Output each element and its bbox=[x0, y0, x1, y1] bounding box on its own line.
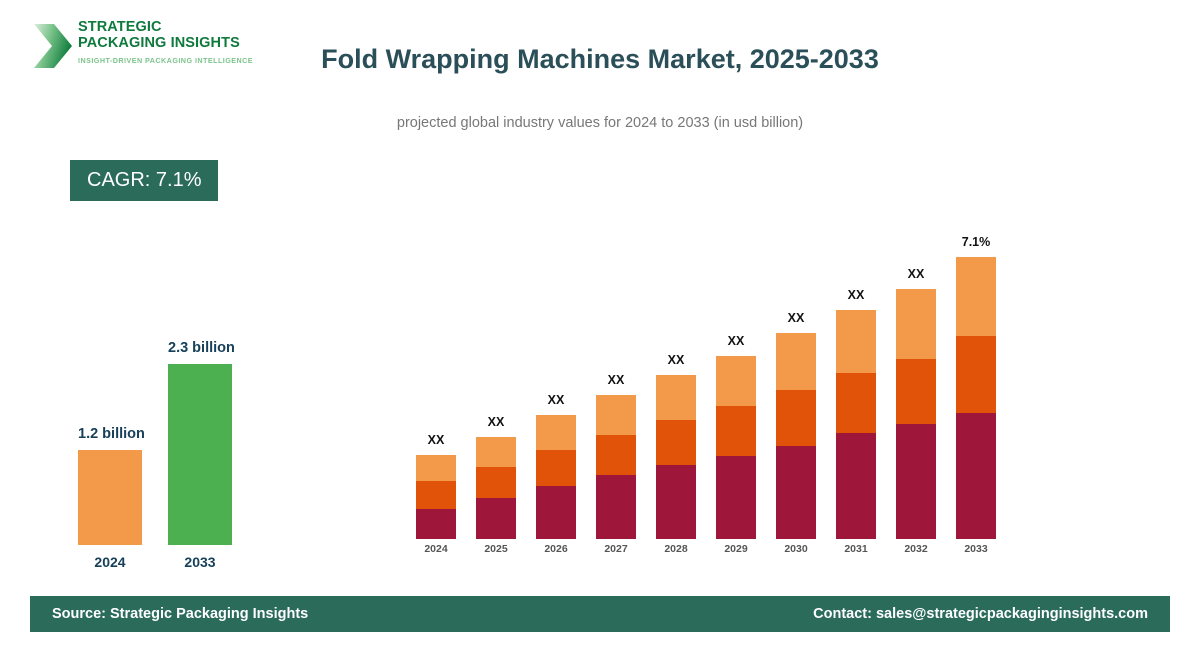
forecast-segment-segment-3 bbox=[536, 415, 576, 450]
forecast-year-label: 2029 bbox=[716, 543, 756, 555]
forecast-year-label: 2024 bbox=[416, 543, 456, 555]
forecast-segment-segment-1 bbox=[476, 498, 516, 539]
forecast-column-2031: XX2031 bbox=[836, 288, 876, 555]
forecast-segment-segment-3 bbox=[716, 356, 756, 406]
forecast-year-label: 2027 bbox=[596, 543, 636, 555]
forecast-segment-segment-1 bbox=[416, 509, 456, 539]
forecast-segment-segment-2 bbox=[476, 467, 516, 498]
forecast-segment-segment-3 bbox=[836, 310, 876, 373]
forecast-column-2028: XX2028 bbox=[656, 353, 696, 555]
forecast-segment-segment-1 bbox=[596, 475, 636, 539]
forecast-stacked-bar-2024 bbox=[416, 455, 456, 539]
forecast-column-2024: XX2024 bbox=[416, 433, 456, 555]
forecast-segment-segment-2 bbox=[836, 373, 876, 433]
page-title: Fold Wrapping Machines Market, 2025-2033 bbox=[0, 44, 1200, 75]
forecast-segment-segment-2 bbox=[416, 481, 456, 509]
forecast-year-label: 2031 bbox=[836, 543, 876, 555]
forecast-year-label: 2033 bbox=[956, 543, 996, 555]
forecast-column-2027: XX2027 bbox=[596, 373, 636, 555]
page-subtitle: projected global industry values for 202… bbox=[0, 115, 1200, 131]
forecast-segment-segment-1 bbox=[896, 424, 936, 539]
forecast-segment-segment-3 bbox=[596, 395, 636, 435]
forecast-bar-label: XX bbox=[776, 311, 816, 325]
comparison-bar-2033 bbox=[168, 364, 232, 545]
forecast-bar-label: XX bbox=[596, 373, 636, 387]
forecast-segment-segment-1 bbox=[836, 433, 876, 539]
forecast-stacked-bar-2026 bbox=[536, 415, 576, 539]
forecast-column-2030: XX2030 bbox=[776, 311, 816, 555]
cagr-badge: CAGR: 7.1% bbox=[70, 160, 218, 201]
forecast-segment-segment-2 bbox=[956, 336, 996, 413]
logo-line-1: STRATEGIC bbox=[78, 20, 253, 36]
forecast-bar-label: XX bbox=[896, 267, 936, 281]
forecast-segment-segment-3 bbox=[956, 257, 996, 336]
footer-bar: Source: Strategic Packaging Insights Con… bbox=[30, 596, 1170, 632]
forecast-bar-label: XX bbox=[836, 288, 876, 302]
forecast-column-2029: XX2029 bbox=[716, 334, 756, 555]
forecast-segment-segment-3 bbox=[476, 437, 516, 467]
forecast-stacked-bar-2028 bbox=[656, 375, 696, 539]
forecast-bar-label: XX bbox=[716, 334, 756, 348]
forecast-year-label: 2026 bbox=[536, 543, 576, 555]
footer-contact: Contact: sales@strategicpackaginginsight… bbox=[813, 606, 1148, 622]
forecast-segment-segment-2 bbox=[656, 420, 696, 465]
segment-stacked-forecast-chart: XX2024XX2025XX2026XX2027XX2028XX2029XX20… bbox=[408, 200, 1008, 555]
forecast-segment-segment-1 bbox=[536, 486, 576, 539]
forecast-segment-segment-2 bbox=[776, 390, 816, 446]
forecast-stacked-bar-2031 bbox=[836, 310, 876, 539]
forecast-segment-segment-2 bbox=[596, 435, 636, 475]
forecast-bar-label: XX bbox=[476, 415, 516, 429]
forecast-segment-segment-3 bbox=[896, 289, 936, 359]
forecast-column-2032: XX2032 bbox=[896, 267, 936, 555]
comparison-year-label: 2033 bbox=[168, 554, 232, 570]
comparison-column-2033: 2.3 billion2033 bbox=[168, 340, 232, 570]
forecast-year-label: 2030 bbox=[776, 543, 816, 555]
forecast-segment-segment-3 bbox=[656, 375, 696, 420]
comparison-bar-2024 bbox=[78, 450, 142, 545]
forecast-segment-segment-2 bbox=[896, 359, 936, 424]
forecast-segment-segment-1 bbox=[716, 456, 756, 539]
comparison-value-label: 1.2 billion bbox=[78, 426, 142, 442]
comparison-value-label: 2.3 billion bbox=[168, 340, 232, 356]
forecast-column-2026: XX2026 bbox=[536, 393, 576, 555]
forecast-column-2025: XX2025 bbox=[476, 415, 516, 555]
comparison-column-2024: 1.2 billion2024 bbox=[78, 426, 142, 570]
forecast-segment-segment-3 bbox=[416, 455, 456, 481]
forecast-year-label: 2032 bbox=[896, 543, 936, 555]
forecast-stacked-bar-2033 bbox=[956, 257, 996, 539]
forecast-column-2033: 7.1%2033 bbox=[956, 235, 996, 555]
comparison-year-label: 2024 bbox=[78, 554, 142, 570]
forecast-bar-label: XX bbox=[416, 433, 456, 447]
forecast-stacked-bar-2030 bbox=[776, 333, 816, 539]
forecast-segment-segment-3 bbox=[776, 333, 816, 390]
market-size-comparison-chart: 1.2 billion20242.3 billion2033 bbox=[60, 300, 280, 570]
forecast-stacked-bar-2025 bbox=[476, 437, 516, 539]
forecast-year-label: 2028 bbox=[656, 543, 696, 555]
forecast-segment-segment-1 bbox=[776, 446, 816, 539]
forecast-segment-segment-1 bbox=[956, 413, 996, 539]
forecast-bar-label: XX bbox=[536, 393, 576, 407]
forecast-bar-label: XX bbox=[656, 353, 696, 367]
forecast-segment-segment-1 bbox=[656, 465, 696, 539]
forecast-bar-label: 7.1% bbox=[956, 235, 996, 249]
forecast-year-label: 2025 bbox=[476, 543, 516, 555]
forecast-stacked-bar-2029 bbox=[716, 356, 756, 539]
footer-source: Source: Strategic Packaging Insights bbox=[52, 606, 308, 622]
forecast-stacked-bar-2027 bbox=[596, 395, 636, 539]
forecast-segment-segment-2 bbox=[716, 406, 756, 456]
forecast-segment-segment-2 bbox=[536, 450, 576, 486]
forecast-stacked-bar-2032 bbox=[896, 289, 936, 539]
